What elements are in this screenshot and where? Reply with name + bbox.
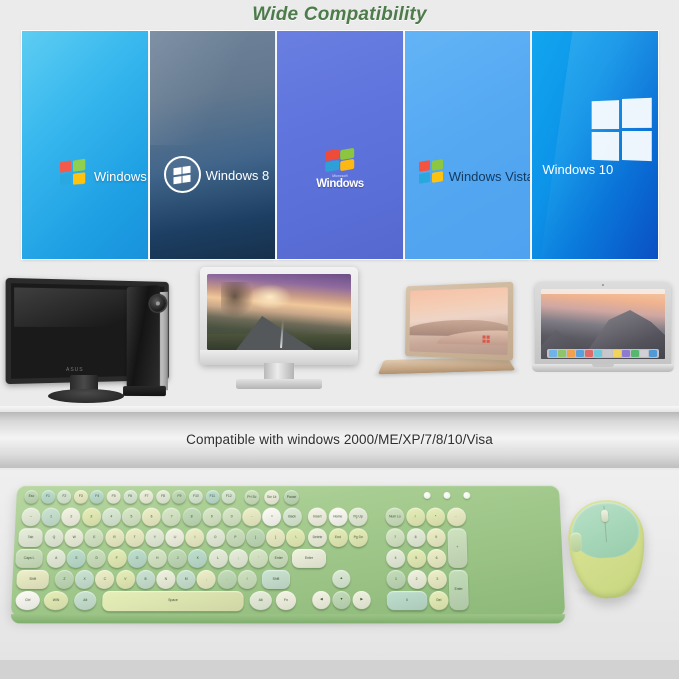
key-enter[interactable]: Enter: [449, 570, 469, 610]
key-f1[interactable]: F1: [41, 490, 55, 504]
device-macbook-pro: [532, 282, 674, 386]
key-2[interactable]: 2: [407, 570, 427, 589]
device-all-in-one: [200, 267, 358, 392]
keyboard-keycaps[interactable]: EscF1F2F3F4F5F6F7F8F9F10F11F12Prt ScScr …: [11, 485, 565, 616]
os-compatibility-strip: Windows 7 Windows 8 Microsoft Windows Wi…: [22, 31, 658, 259]
key-6[interactable]: 6: [427, 549, 447, 568]
os-panel-windows-7: Windows 7: [22, 31, 148, 259]
key-f3[interactable]: F3: [74, 490, 88, 504]
key-[interactable]: +: [447, 528, 467, 568]
os-panel-label-windows-10: Windows 10: [542, 162, 613, 177]
key-[interactable]: /: [237, 570, 256, 589]
key-7[interactable]: 7: [162, 508, 181, 527]
bottom-strip: [0, 660, 679, 679]
key-[interactable]: ;: [229, 549, 248, 568]
macbook-lid: [535, 282, 671, 366]
key-[interactable]: /: [406, 508, 425, 527]
monitor-brand-label: ASUS: [66, 367, 84, 373]
key-g[interactable]: G: [127, 549, 147, 568]
key-home[interactable]: Home: [328, 508, 347, 527]
key-5[interactable]: 5: [406, 549, 425, 568]
key-shift[interactable]: Shift: [16, 570, 49, 589]
key-7[interactable]: 7: [386, 528, 405, 547]
key-[interactable]: [: [246, 528, 265, 547]
key-6[interactable]: 6: [142, 508, 161, 527]
windows-10-panes-icon: [592, 98, 655, 165]
macos-dock: [547, 349, 659, 358]
key-j[interactable]: J: [168, 549, 187, 568]
key-f2[interactable]: F2: [57, 490, 71, 504]
key-b[interactable]: B: [136, 570, 156, 589]
os-panel-windows-xp: Microsoft Windows: [277, 31, 403, 259]
key-pg-up[interactable]: Pg Up: [349, 508, 368, 527]
key-l[interactable]: L: [208, 549, 227, 568]
macbook-screen-wallpaper: [541, 289, 665, 359]
key-t[interactable]: T: [125, 528, 144, 547]
key-[interactable]: ,: [197, 570, 216, 589]
surface-laptop-screen-wallpaper: [409, 287, 507, 355]
key-back[interactable]: Back: [283, 508, 302, 527]
key-3[interactable]: 3: [427, 570, 447, 589]
windows-logo-watermark-icon: [482, 335, 490, 343]
device-surface-laptop: [382, 284, 518, 388]
key-e[interactable]: E: [84, 528, 104, 547]
key-delete[interactable]: Delete: [308, 528, 327, 547]
key-num-lock[interactable]: Num Lo: [385, 508, 404, 527]
key-[interactable]: -: [242, 508, 261, 527]
key-ctrl[interactable]: Ctrl: [15, 591, 40, 610]
tower-front-panel: [127, 285, 160, 391]
key-o[interactable]: O: [206, 528, 225, 547]
key-[interactable]: ': [249, 549, 268, 568]
windows-flag-4color-icon: [419, 160, 445, 185]
product-photo-area: EscF1F2F3F4F5F6F7F8F9F10F11F12Prt ScScr …: [0, 470, 679, 679]
key-f5[interactable]: F5: [106, 490, 120, 504]
key-8[interactable]: 8: [182, 508, 201, 527]
key-i[interactable]: I: [185, 528, 204, 547]
key-[interactable]: ~: [21, 508, 41, 527]
os-panel-windows-8: Windows 8: [150, 31, 276, 259]
key-f7[interactable]: F7: [139, 490, 153, 504]
key-y[interactable]: Y: [145, 528, 164, 547]
key-f11[interactable]: F11: [205, 490, 219, 504]
key-[interactable]: *: [426, 508, 445, 527]
key-0[interactable]: 0: [222, 508, 241, 527]
surface-laptop-lid: [405, 282, 513, 361]
key-f8[interactable]: F8: [156, 490, 170, 504]
key-1[interactable]: 1: [386, 570, 405, 589]
compatibility-caption: Compatible with windows 2000/ME/XP/7/8/1…: [0, 432, 679, 447]
key-[interactable]: ]: [266, 528, 285, 547]
key-1[interactable]: 1: [41, 508, 61, 527]
key-[interactable]: ▶: [352, 591, 370, 609]
key-space[interactable]: Space: [102, 591, 244, 611]
key-end[interactable]: End: [328, 528, 347, 547]
key-c[interactable]: C: [95, 570, 115, 589]
key-alt[interactable]: Alt: [74, 591, 97, 610]
key-h[interactable]: H: [148, 549, 167, 568]
key-a[interactable]: A: [46, 549, 66, 568]
all-in-one-screen-wallpaper: [207, 274, 351, 350]
key-alt[interactable]: Alt: [250, 591, 272, 610]
key-[interactable]: ▼: [332, 591, 350, 609]
key-r[interactable]: R: [105, 528, 125, 547]
os-panel-label-windows-vista: Windows Vista: [449, 169, 531, 184]
key-8[interactable]: 8: [406, 528, 425, 547]
os-panel-label-windows-xp: Windows: [316, 178, 364, 190]
key-del[interactable]: Del: [429, 591, 449, 610]
key-n[interactable]: N: [156, 570, 176, 589]
os-panel-windows-vista: Windows Vista: [405, 31, 531, 259]
key-0[interactable]: 0: [387, 591, 428, 610]
key-[interactable]: .: [217, 570, 236, 589]
os-panel-windows-10: Windows 10: [532, 31, 658, 259]
wallpaper-road: [236, 316, 314, 350]
key-z[interactable]: Z: [54, 570, 74, 589]
key-d[interactable]: D: [87, 549, 107, 568]
key-f4[interactable]: F4: [90, 490, 104, 504]
key-q[interactable]: Q: [44, 528, 64, 547]
key-[interactable]: ◀: [312, 591, 330, 609]
key-caps-lock[interactable]: Caps L: [15, 549, 43, 568]
key-s[interactable]: S: [66, 549, 86, 568]
wallpaper-sun: [248, 284, 292, 310]
key-f[interactable]: F: [107, 549, 127, 568]
key-win[interactable]: WIN: [43, 591, 68, 610]
mouse-side-button[interactable]: [570, 532, 582, 552]
key-insert[interactable]: Insert: [308, 508, 327, 527]
key-p[interactable]: P: [226, 528, 245, 547]
all-in-one-stand-base: [236, 379, 322, 389]
key-enter[interactable]: Enter: [292, 549, 326, 568]
key-w[interactable]: W: [64, 528, 84, 547]
product-keyboard: EscF1F2F3F4F5F6F7F8F9F10F11F12Prt ScScr …: [11, 485, 565, 616]
product-mouse: [569, 498, 645, 598]
key-3[interactable]: 3: [81, 508, 101, 527]
key-k[interactable]: K: [188, 549, 207, 568]
key-[interactable]: \: [286, 528, 305, 547]
key-9[interactable]: 9: [202, 508, 221, 527]
key-shift[interactable]: Shift: [262, 570, 290, 589]
device-desktop-pc-tower: [112, 286, 168, 394]
key-[interactable]: -: [446, 508, 465, 527]
mouse-scroll-wheel[interactable]: [601, 510, 609, 523]
key-prt-sc[interactable]: Prt Sc: [244, 490, 259, 505]
key-f10[interactable]: F10: [189, 490, 203, 504]
key-enter[interactable]: Enter: [269, 549, 288, 568]
windows-circle-white-icon: [164, 156, 201, 193]
key-x[interactable]: X: [75, 570, 95, 589]
os-panel-label-windows-7: Windows 7: [94, 169, 148, 184]
key-4[interactable]: 4: [102, 508, 121, 527]
key-pause[interactable]: Pause: [284, 490, 299, 505]
macos-menu-bar: [541, 289, 665, 294]
key-esc[interactable]: Esc: [24, 490, 38, 504]
key-fn[interactable]: Fn: [276, 591, 296, 610]
page-title: Wide Compatibility: [0, 4, 679, 26]
key-f6[interactable]: F6: [123, 490, 137, 504]
windows-xp-flag-icon: [323, 149, 357, 173]
windows-flag-4color-icon: [60, 159, 87, 187]
device-row: ASUS: [0, 262, 679, 412]
key-f12[interactable]: F12: [222, 490, 236, 504]
key-v[interactable]: V: [115, 570, 135, 589]
key-pg-dn[interactable]: Pg Dn: [349, 528, 368, 547]
key-4[interactable]: 4: [386, 549, 405, 568]
webcam-icon: [602, 284, 604, 286]
key-m[interactable]: M: [176, 570, 195, 589]
tower-base: [123, 386, 166, 396]
os-panel-label-windows-8: Windows 8: [206, 168, 270, 183]
key-f9[interactable]: F9: [172, 490, 186, 504]
key-2[interactable]: 2: [61, 508, 81, 527]
macbook-lid-notch: [592, 364, 614, 367]
key-u[interactable]: U: [165, 528, 184, 547]
key-tab[interactable]: Tab: [18, 528, 43, 547]
all-in-one-frame: [200, 267, 358, 365]
key-[interactable]: =: [262, 508, 281, 527]
key-scr-lk[interactable]: Scr Lk: [264, 490, 279, 505]
product-infographic: Wide Compatibility Windows 7 Windows 8 M…: [0, 0, 679, 679]
key-[interactable]: ▲: [332, 570, 350, 588]
key-5[interactable]: 5: [122, 508, 141, 527]
key-9[interactable]: 9: [426, 528, 445, 547]
